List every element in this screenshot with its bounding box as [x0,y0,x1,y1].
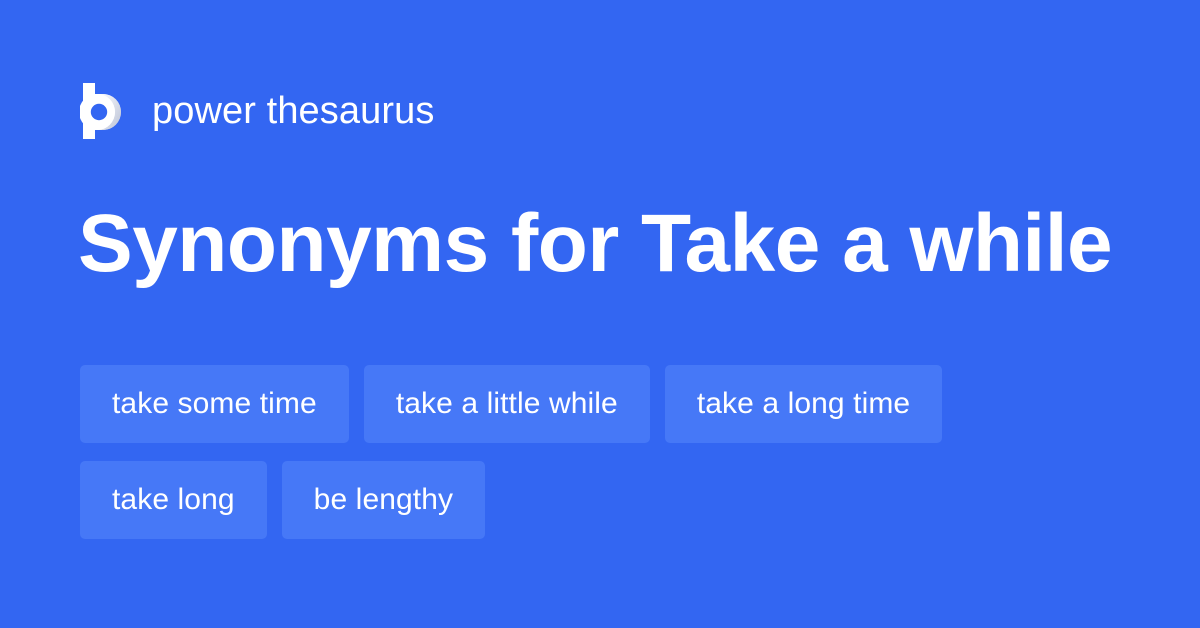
synonym-chip[interactable]: take a long time [665,365,942,443]
synonym-chip[interactable]: take some time [80,365,349,443]
brand-lockup[interactable]: power thesaurus [80,83,434,139]
share-card: power thesaurus Synonyms for Take a whil… [0,0,1200,628]
brand-name: power thesaurus [152,92,434,130]
power-thesaurus-b-logo-icon [80,83,126,139]
synonym-chip[interactable]: be lengthy [282,461,485,539]
synonym-chip[interactable]: take long [80,461,267,539]
synonym-chip[interactable]: take a little while [364,365,650,443]
synonym-chip-list: take some time take a little while take … [80,365,1130,539]
page-title: Synonyms for Take a while [78,196,1138,292]
